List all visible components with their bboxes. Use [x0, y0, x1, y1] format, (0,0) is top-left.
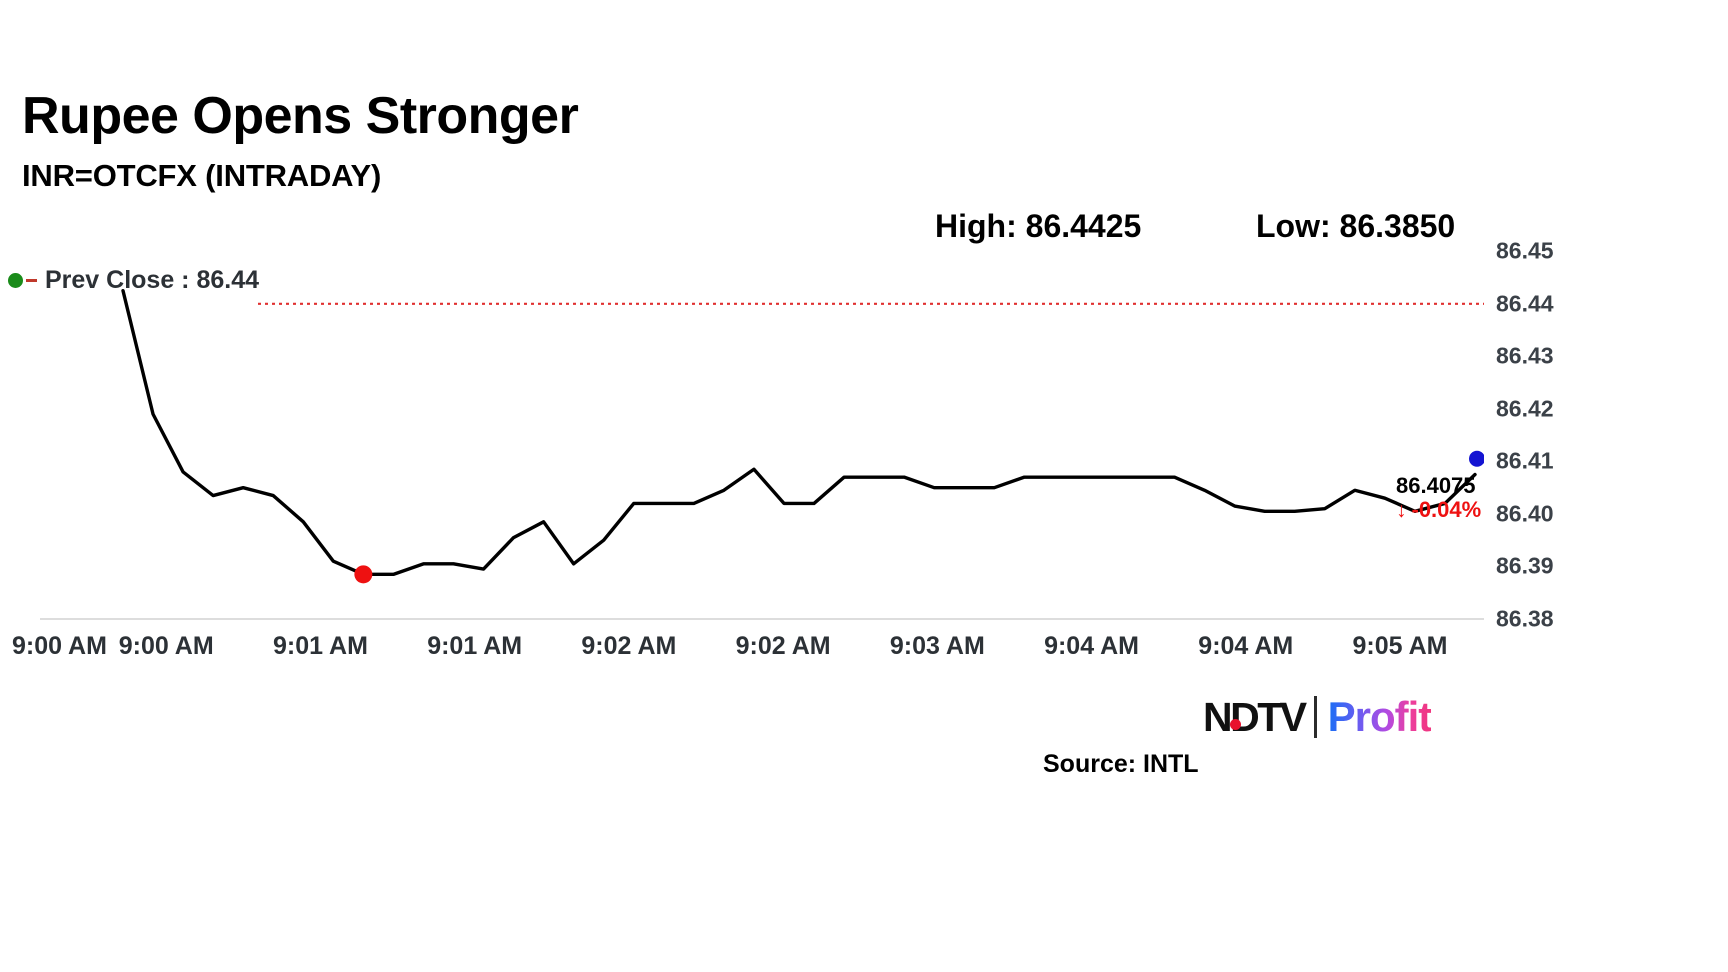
- y-axis: 86.4586.4486.4386.4286.4186.4086.3986.38: [1496, 215, 1606, 620]
- last-value-callout: 86.4075 ↓ -0.04%: [1396, 474, 1481, 523]
- y-axis-tick: 86.43: [1496, 343, 1554, 370]
- ndtv-profit-logo: NDTV Profit: [1203, 694, 1431, 740]
- ndtv-red-dot-icon: [1230, 719, 1241, 730]
- x-axis-tick: 9:02 AM: [736, 632, 831, 661]
- arrow-down-icon: ↓: [1396, 500, 1407, 521]
- last-change-row: ↓ -0.04%: [1396, 497, 1481, 523]
- ndtv-wordmark: NDTV: [1203, 697, 1305, 738]
- x-axis-tick: 9:02 AM: [581, 632, 676, 661]
- x-axis-tick: 9:05 AM: [1353, 632, 1448, 661]
- page-title: Rupee Opens Stronger: [22, 86, 578, 146]
- prev-close-legend: Prev Close : 86.44: [8, 266, 259, 295]
- last-change-label: -0.04%: [1412, 497, 1482, 523]
- y-axis-tick: 86.45: [1496, 238, 1554, 265]
- chart-subtitle: INR=OTCFX (INTRADAY): [22, 158, 381, 194]
- x-axis: 9:00 AM9:00 AM9:01 AM9:01 AM9:02 AM9:02 …: [0, 622, 1490, 682]
- x-axis-tick: 9:04 AM: [1044, 632, 1139, 661]
- price-line: [123, 291, 1475, 575]
- x-axis-tick: 9:00 AM: [119, 632, 214, 661]
- x-axis-tick: 9:03 AM: [890, 632, 985, 661]
- prev-close-dot-icon: [8, 273, 23, 288]
- y-axis-tick: 86.44: [1496, 290, 1554, 317]
- x-axis-tick: 9:01 AM: [273, 632, 368, 661]
- prev-close-label: Prev Close : 86.44: [45, 266, 259, 295]
- low-point-marker: [354, 565, 372, 583]
- chart-canvas: Rupee Opens Stronger INR=OTCFX (INTRADAY…: [0, 0, 1728, 972]
- y-axis-tick: 86.38: [1496, 606, 1554, 633]
- y-axis-tick: 86.40: [1496, 500, 1554, 527]
- y-axis-tick: 86.39: [1496, 553, 1554, 580]
- y-axis-tick: 86.41: [1496, 448, 1554, 475]
- x-axis-tick: 9:01 AM: [427, 632, 522, 661]
- y-axis-tick: 86.42: [1496, 395, 1554, 422]
- high-point-marker: [1469, 451, 1484, 467]
- x-axis-tick: 9:00 AM: [12, 632, 107, 661]
- last-price-label: 86.4075: [1396, 474, 1481, 497]
- profit-wordmark: Profit: [1328, 696, 1432, 738]
- logo-divider: [1314, 696, 1317, 738]
- x-axis-tick: 9:04 AM: [1198, 632, 1293, 661]
- prev-close-line-icon: [26, 279, 37, 282]
- source-label: Source: INTL: [1043, 750, 1199, 779]
- ndtv-text: NDTV: [1203, 694, 1305, 740]
